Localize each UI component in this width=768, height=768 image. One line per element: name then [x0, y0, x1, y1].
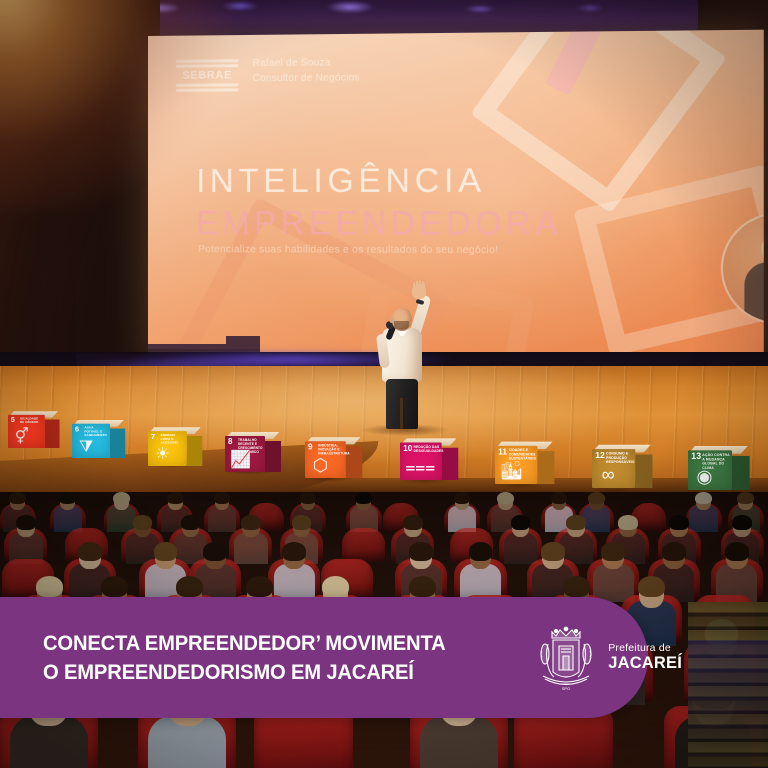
sdg-cube-symbol-icon: 🏙 — [500, 461, 521, 482]
banner-headline-line2: O EMPREENDEDORISMO EM JACAREÍ — [43, 658, 446, 686]
sdg-cube-side — [110, 429, 125, 458]
audience-person-hair — [181, 515, 201, 530]
theater-seat — [342, 528, 385, 562]
sdg-cube-symbol-icon: ⚥ — [13, 428, 31, 446]
audience-person-hair — [292, 515, 312, 530]
audience-person-hair — [497, 492, 514, 504]
sdg-cube-side — [537, 451, 554, 484]
svg-text:SPO: SPO — [562, 686, 570, 691]
sdg-cube-number: 13 — [691, 453, 701, 462]
slide-presenter-block: Rafael de Souza Consultor de Negócios — [253, 56, 360, 86]
headline-banner: CONECTA EMPREENDEDOR’ MOVIMENTA O EMPREE… — [0, 597, 648, 718]
sdg-cube-12: 12CONSUMO E PRODUÇÃO RESPONSÁVEIS∞ — [592, 445, 652, 488]
speaker-fingers — [413, 281, 425, 289]
sdg-cube-7: 7ENERGIA LIMPA E ACESSÍVEL☀ — [148, 427, 202, 466]
sdg-cube-symbol-icon: ∞ — [597, 464, 619, 486]
audience-person-body — [208, 506, 236, 532]
sdg-cube-10: 10REDUÇÃO DAS DESIGUALDADES⩶ — [400, 438, 458, 480]
presenter-name: Rafael de Souza — [253, 56, 360, 72]
sdg-cube-label: ÁGUA POTÁVEL E SANEAMENTO — [84, 426, 108, 437]
brand-line-bottom: JACAREÍ — [608, 654, 682, 672]
audience-person-hair — [355, 492, 372, 504]
audience-person-body — [689, 506, 717, 532]
audience-person-body — [234, 533, 268, 564]
portrait-head — [762, 231, 764, 264]
speaker-beard — [394, 321, 409, 330]
audience-person-hair — [154, 542, 178, 560]
sdg-cube-number: 7 — [151, 433, 155, 441]
aisle-stairs-light — [688, 640, 768, 768]
sdg-cube-label: INDÚSTRIA, INOVAÇÃO E INFRAESTRUTURA — [318, 443, 344, 455]
lens-flare-streaks — [0, 0, 260, 200]
audience-person-hair — [241, 515, 261, 530]
sdg-cube-front: 6ÁGUA POTÁVEL E SANEAMENTO⧩ — [72, 424, 110, 458]
audience-person-hair — [566, 515, 586, 530]
audience-person-hair — [469, 542, 493, 560]
sdg-cube-side — [265, 441, 281, 472]
audience-person-hair — [113, 492, 130, 504]
sdg-cube-label: ENERGIA LIMPA E ACESSÍVEL — [161, 433, 185, 445]
slide-title-line2: EMPREENDEDORA — [196, 204, 562, 243]
audience-person-hair — [511, 515, 531, 530]
speaker-figure — [372, 280, 438, 430]
audience-person-hair — [541, 542, 565, 560]
sdg-cube-label: REDUÇÃO DAS DESIGUALDADES — [414, 445, 440, 453]
sdg-cube-8: 8TRABALHO DECENTE E CRESCIMENTO ECONÔMIC… — [225, 432, 281, 472]
prefeitura-brand: SPO Prefeitura de JACAREÍ — [535, 624, 682, 692]
audience-person-hair — [409, 576, 436, 597]
audience-person-hair — [588, 492, 605, 504]
sdg-cube-number: 11 — [498, 448, 507, 456]
speaker-leg-gap — [400, 398, 403, 429]
sdg-cube-symbol-icon: ⬡ — [310, 456, 330, 476]
sdg-cube-5: 5IGUALDADE DE GÊNERO⚥ — [8, 411, 60, 448]
sdg-cube-symbol-icon: 📈 — [230, 450, 250, 470]
audience-person-hair — [454, 492, 471, 504]
sdg-cube-number: 9 — [308, 443, 313, 451]
slide-subtitle: Potencialize suas habilidades e os resul… — [198, 244, 498, 256]
audience-person-hair — [601, 542, 625, 560]
audience-person-hair — [176, 576, 203, 597]
sdg-cube-side — [45, 419, 60, 448]
audience-person-hair — [618, 515, 638, 530]
sdg-cube-front: 7ENERGIA LIMPA E ACESSÍVEL☀ — [148, 431, 187, 466]
sdg-cube-label: IGUALDADE DE GÊNERO — [20, 417, 43, 424]
audience-person-hair — [669, 515, 689, 530]
sdg-cube-front: 11CIDADES E COMUNIDADES SUSTENTÁVEIS🏙 — [495, 446, 537, 484]
sdg-cube-number: 5 — [11, 417, 15, 424]
sdg-cube-side — [732, 456, 750, 490]
audience-person-hair — [9, 492, 26, 504]
sdg-cube-front: 10REDUÇÃO DAS DESIGUALDADES⩶ — [400, 443, 442, 480]
audience-person-hair — [214, 492, 231, 504]
audience-person-hair — [59, 492, 76, 504]
sdg-cube-side — [442, 448, 459, 480]
audience-person-hair — [322, 576, 349, 597]
sdg-cube-symbol-icon: ☀ — [153, 445, 172, 464]
sdg-cube-13: 13AÇÃO CONTRA A MUDANÇA GLOBAL DO CLIMA◉ — [688, 446, 750, 490]
sdg-cube-symbol-icon: ◉ — [694, 466, 716, 488]
sdg-cube-number: 6 — [75, 426, 79, 434]
sdg-cube-11: 11CIDADES E COMUNIDADES SUSTENTÁVEIS🏙 — [495, 442, 554, 484]
banner-headline-line1: CONECTA EMPREENDEDOR’ MOVIMENTA — [43, 629, 446, 657]
audience-person-hair — [403, 515, 423, 530]
audience-person-hair — [167, 492, 184, 504]
audience-person-hair — [246, 576, 273, 597]
banner-headline: CONECTA EMPREENDEDOR’ MOVIMENTA O EMPREE… — [43, 629, 446, 686]
sdg-cube-number: 10 — [403, 445, 412, 453]
audience-person-hair — [16, 515, 36, 530]
audience-person-hair — [725, 542, 749, 560]
audience-person-hair — [732, 515, 752, 530]
sdg-cube-side — [635, 455, 652, 488]
audience-person-hair — [101, 576, 128, 597]
sdg-cube-symbol-icon: ⧩ — [77, 437, 96, 456]
sdg-cube-front: 8TRABALHO DECENTE E CRESCIMENTO ECONÔMIC… — [225, 436, 265, 472]
jacarei-coat-of-arms-icon: SPO — [535, 624, 597, 692]
audience-person-hair — [662, 542, 686, 560]
audience-person-body — [504, 533, 538, 564]
audience-person-hair — [78, 542, 102, 560]
sdg-cube-label: CONSUMO E PRODUÇÃO RESPONSÁVEIS — [606, 451, 633, 464]
sdg-cube-symbol-icon: ⩶ — [405, 457, 426, 478]
sdg-cube-6: 6ÁGUA POTÁVEL E SANEAMENTO⧩ — [72, 420, 125, 458]
event-photo-card: SEBRAE Rafael de Souza Consultor de Negó… — [0, 0, 768, 768]
audience-person-hair — [563, 576, 590, 597]
sdg-cube-9: 9INDÚSTRIA, INOVAÇÃO E INFRAESTRUTURA⬡ — [305, 437, 362, 478]
audience-person-hair — [203, 542, 227, 560]
sdg-cube-number: 12 — [595, 451, 605, 460]
brand-line-top: Prefeitura de — [608, 643, 682, 655]
sdg-cube-front: 9INDÚSTRIA, INOVAÇÃO E INFRAESTRUTURA⬡ — [305, 441, 346, 478]
sdg-cube-number: 8 — [228, 438, 232, 446]
presenter-role: Consultor de Negócios — [253, 71, 360, 86]
sdg-cube-side — [187, 436, 203, 466]
sdg-cube-front: 12CONSUMO E PRODUÇÃO RESPONSÁVEIS∞ — [592, 449, 635, 488]
portrait-suit — [744, 262, 763, 325]
audience-person-hair — [737, 492, 754, 504]
audience-person-hair — [133, 515, 153, 530]
sdg-cube-label: CIDADES E COMUNIDADES SUSTENTÁVEIS — [509, 448, 536, 461]
audience-person-hair — [409, 542, 433, 560]
audience-person-hair — [551, 492, 568, 504]
audience-person-hair — [638, 576, 665, 597]
prefeitura-brand-text: Prefeitura de JACAREÍ — [608, 643, 682, 673]
audience-person-hair — [695, 492, 712, 504]
sdg-cube-front: 5IGUALDADE DE GÊNERO⚥ — [8, 415, 45, 448]
sdg-cube-front: 13AÇÃO CONTRA A MUDANÇA GLOBAL DO CLIMA◉ — [688, 450, 732, 490]
audience-person-hair — [282, 542, 306, 560]
audience-person-hair — [300, 492, 317, 504]
audience-person-hair — [36, 576, 63, 597]
